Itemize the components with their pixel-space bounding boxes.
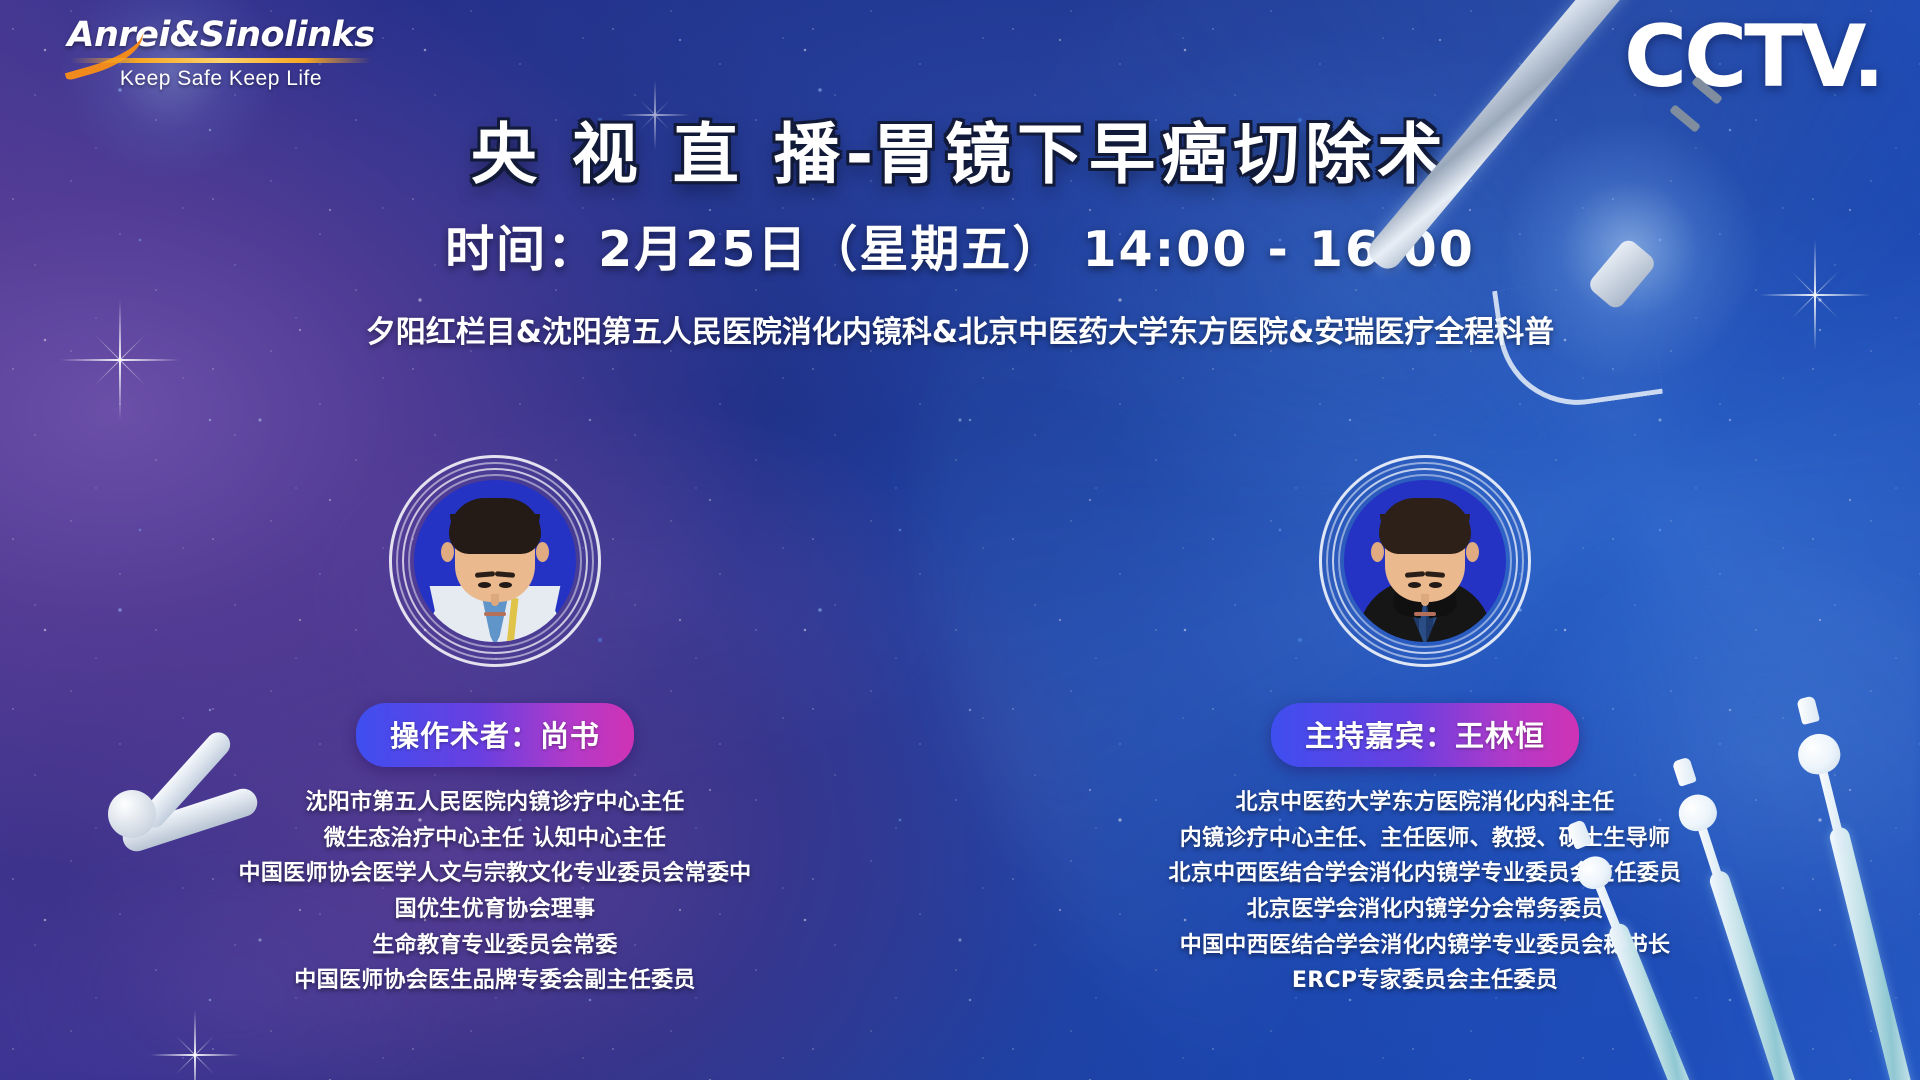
credential-item: 中国医师协会医学人文与宗教文化专业委员会常委中 bbox=[225, 856, 765, 892]
portrait-eye-right bbox=[499, 582, 512, 588]
speaker-card-operator: 操作术者：尚书 沈阳市第五人民医院内镜诊疗中心主任 微生态治疗中心主任 认知中心… bbox=[225, 455, 765, 999]
speaker-card-host: 主持嘉宾：王林恒 北京中医药大学东方医院消化内科主任 内镜诊疗中心主任、主任医师… bbox=[1155, 455, 1695, 999]
portrait-brow-left bbox=[475, 571, 495, 578]
portrait-eye-left bbox=[1408, 582, 1421, 588]
brand-divider bbox=[71, 58, 371, 63]
avatar-photo-host bbox=[1344, 480, 1506, 642]
credential-item: 微生态治疗中心主任 认知中心主任 bbox=[225, 821, 765, 857]
credential-item: 北京医学会消化内镜学分会常务委员 bbox=[1155, 892, 1695, 928]
credential-item: 生命教育专业委员会常委 bbox=[225, 928, 765, 964]
portrait-eye-left bbox=[478, 582, 491, 588]
portrait-nose bbox=[491, 594, 499, 606]
portrait-brow-right bbox=[495, 571, 515, 578]
portrait-mouth bbox=[1414, 612, 1436, 616]
portrait-brow-left bbox=[1405, 571, 1425, 578]
brand-logo: Anrei&Sinolinks Keep Safe Keep Life bbox=[66, 18, 376, 91]
title-rest: 胃镜下早癌切除术 bbox=[873, 116, 1449, 193]
avatar-photo-operator bbox=[414, 480, 576, 642]
title-separator: - bbox=[846, 116, 873, 193]
portrait-eye-right bbox=[1429, 582, 1442, 588]
live-broadcast-poster: Anrei&Sinolinks Keep Safe Keep Life CCTV… bbox=[0, 0, 1920, 1080]
credential-item: 北京中医药大学东方医院消化内科主任 bbox=[1155, 785, 1695, 821]
portrait-ear-right bbox=[536, 542, 549, 562]
credential-item: 北京中西医结合学会消化内镜学专业委员会主任委员 bbox=[1155, 856, 1695, 892]
credential-item: 内镜诊疗中心主任、主任医师、教授、硕士生导师 bbox=[1155, 821, 1695, 857]
portrait-mouth bbox=[484, 612, 506, 616]
credential-item: 国优生优育协会理事 bbox=[225, 892, 765, 928]
credential-item: ERCP专家委员会主任委员 bbox=[1155, 963, 1695, 999]
credential-item: 中国医师协会医生品牌专委会副主任委员 bbox=[225, 963, 765, 999]
portrait-ear-right bbox=[1466, 542, 1479, 562]
event-time: 时间：2月25日（星期五） 14:00 - 16:00 bbox=[0, 210, 1920, 281]
page-title: 央 视 直 播-胃镜下早癌切除术 bbox=[0, 118, 1920, 192]
headline-block: 央 视 直 播-胃镜下早癌切除术 时间：2月25日（星期五） 14:00 - 1… bbox=[0, 118, 1920, 351]
portrait-brow-right bbox=[1425, 571, 1445, 578]
partners-line: 夕阳红栏目&沈阳第五人民医院消化内镜科&北京中医药大学东方医院&安瑞医疗全程科普 bbox=[0, 307, 1920, 351]
speaker-name-badge: 操作术者：尚书 bbox=[356, 703, 634, 767]
credential-item: 沈阳市第五人民医院内镜诊疗中心主任 bbox=[225, 785, 765, 821]
speakers-row: 操作术者：尚书 沈阳市第五人民医院内镜诊疗中心主任 微生态治疗中心主任 认知中心… bbox=[0, 455, 1920, 999]
title-main: 央 视 直 播 bbox=[471, 116, 846, 193]
credential-item: 中国中西医结合学会消化内镜学专业委员会秘书长 bbox=[1155, 928, 1695, 964]
credentials-list-operator: 沈阳市第五人民医院内镜诊疗中心主任 微生态治疗中心主任 认知中心主任 中国医师协… bbox=[225, 785, 765, 999]
credentials-list-host: 北京中医药大学东方医院消化内科主任 内镜诊疗中心主任、主任医师、教授、硕士生导师… bbox=[1155, 785, 1695, 999]
portrait-nose bbox=[1421, 594, 1429, 606]
avatar bbox=[1319, 455, 1531, 667]
avatar bbox=[389, 455, 601, 667]
cctv-logo: CCTV. bbox=[1624, 14, 1882, 100]
brand-tagline: Keep Safe Keep Life bbox=[66, 67, 376, 91]
speaker-name-badge: 主持嘉宾：王林恒 bbox=[1271, 703, 1579, 767]
